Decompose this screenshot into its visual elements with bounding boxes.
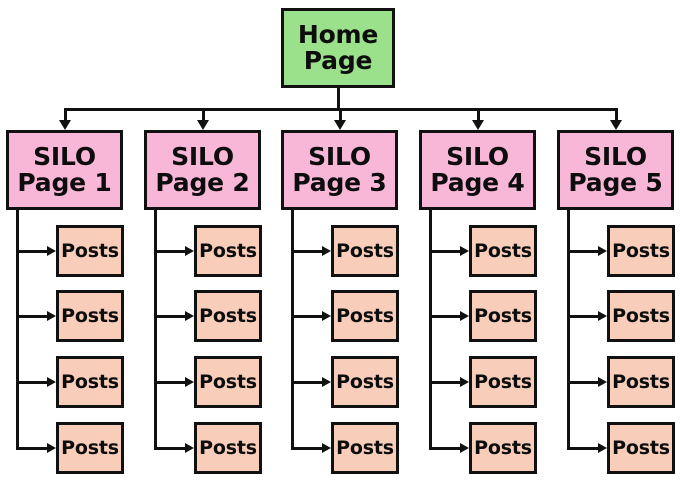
arrowhead-silo-4-post-2 <box>460 311 469 321</box>
arrowhead-silo-2-post-1 <box>185 246 194 256</box>
edge-silo-2-post-2 <box>154 315 186 318</box>
node-post-2-4-label: Posts <box>199 438 257 458</box>
arrowhead-silo-4 <box>472 120 484 130</box>
edge-silo-3-post-4 <box>291 447 323 450</box>
node-silo-page-1[interactable]: SILO Page 1 <box>6 130 123 210</box>
edge-silo-3-spine <box>291 210 294 450</box>
edge-silo-1-post-2 <box>16 315 48 318</box>
node-post-5-3-label: Posts <box>612 372 670 392</box>
arrowhead-silo-5-post-3 <box>598 377 607 387</box>
node-post-2-3[interactable]: Posts <box>194 356 262 408</box>
arrowhead-silo-5 <box>610 120 622 130</box>
node-post-2-4[interactable]: Posts <box>194 422 262 474</box>
arrowhead-silo-2 <box>197 120 209 130</box>
arrowhead-silo-5-post-1 <box>598 246 607 256</box>
node-post-5-4[interactable]: Posts <box>607 422 675 474</box>
silo-structure-diagram: Home Page SILO Page 1PostsPostsPostsPost… <box>0 0 681 488</box>
node-silo-page-5[interactable]: SILO Page 5 <box>557 130 674 210</box>
arrowhead-silo-1-post-1 <box>47 246 56 256</box>
arrowhead-silo-1-post-4 <box>47 443 56 453</box>
edge-silo-3-post-3 <box>291 381 323 384</box>
node-post-2-3-label: Posts <box>199 372 257 392</box>
arrowhead-silo-4-post-3 <box>460 377 469 387</box>
edge-silo-3-post-1 <box>291 250 323 253</box>
node-post-5-2[interactable]: Posts <box>607 290 675 342</box>
node-post-5-4-label: Posts <box>612 438 670 458</box>
node-post-4-2-label: Posts <box>474 306 532 326</box>
arrowhead-silo-2-post-3 <box>185 377 194 387</box>
node-post-3-3-label: Posts <box>336 372 394 392</box>
node-post-2-1-label: Posts <box>199 241 257 261</box>
arrowhead-silo-1-post-2 <box>47 311 56 321</box>
node-silo-page-3-label: SILO Page 3 <box>292 144 386 197</box>
arrowhead-silo-4-post-1 <box>460 246 469 256</box>
node-post-4-1-label: Posts <box>474 241 532 261</box>
node-post-3-4[interactable]: Posts <box>331 422 399 474</box>
edge-silo-5-post-1 <box>567 250 599 253</box>
node-silo-page-5-label: SILO Page 5 <box>568 144 662 197</box>
node-post-4-1[interactable]: Posts <box>469 225 537 277</box>
node-post-1-1[interactable]: Posts <box>56 225 124 277</box>
arrowhead-silo-2-post-4 <box>185 443 194 453</box>
edge-silo-2-post-3 <box>154 381 186 384</box>
edge-silo-1-post-1 <box>16 250 48 253</box>
arrowhead-silo-1 <box>59 120 71 130</box>
node-post-5-2-label: Posts <box>612 306 670 326</box>
arrowhead-silo-5-post-2 <box>598 311 607 321</box>
arrowhead-silo-1-post-3 <box>47 377 56 387</box>
edge-silo-4-post-4 <box>429 447 461 450</box>
edge-silo-4-spine <box>429 210 432 450</box>
edge-silo-3-post-2 <box>291 315 323 318</box>
arrowhead-silo-4-post-4 <box>460 443 469 453</box>
node-silo-page-1-label: SILO Page 1 <box>17 144 111 197</box>
edge-silo-2-spine <box>154 210 157 450</box>
node-post-2-2-label: Posts <box>199 306 257 326</box>
node-post-1-3[interactable]: Posts <box>56 356 124 408</box>
edge-silo-1-post-4 <box>16 447 48 450</box>
arrowhead-silo-3 <box>334 120 346 130</box>
edge-silo-1-spine <box>16 210 19 450</box>
node-post-4-4[interactable]: Posts <box>469 422 537 474</box>
node-post-3-1[interactable]: Posts <box>331 225 399 277</box>
node-post-3-3[interactable]: Posts <box>331 356 399 408</box>
node-silo-page-2-label: SILO Page 2 <box>155 144 249 197</box>
node-post-1-4[interactable]: Posts <box>56 422 124 474</box>
node-post-4-2[interactable]: Posts <box>469 290 537 342</box>
node-post-1-4-label: Posts <box>61 438 119 458</box>
arrowhead-silo-3-post-3 <box>322 377 331 387</box>
node-post-3-4-label: Posts <box>336 438 394 458</box>
node-silo-page-3[interactable]: SILO Page 3 <box>281 130 398 210</box>
node-post-1-1-label: Posts <box>61 241 119 261</box>
node-post-2-2[interactable]: Posts <box>194 290 262 342</box>
node-post-3-1-label: Posts <box>336 241 394 261</box>
edge-silo-4-post-3 <box>429 381 461 384</box>
node-silo-page-4-label: SILO Page 4 <box>430 144 524 197</box>
node-silo-page-4[interactable]: SILO Page 4 <box>419 130 536 210</box>
node-post-4-3[interactable]: Posts <box>469 356 537 408</box>
edge-silo-2-post-1 <box>154 250 186 253</box>
node-post-3-2[interactable]: Posts <box>331 290 399 342</box>
edge-silo-5-spine <box>567 210 570 450</box>
arrowhead-silo-3-post-1 <box>322 246 331 256</box>
node-post-1-3-label: Posts <box>61 372 119 392</box>
node-post-3-2-label: Posts <box>336 306 394 326</box>
node-post-5-1-label: Posts <box>612 241 670 261</box>
edge-silo-4-post-2 <box>429 315 461 318</box>
edge-silo-1-post-3 <box>16 381 48 384</box>
node-post-2-1[interactable]: Posts <box>194 225 262 277</box>
edge-silo-2-post-4 <box>154 447 186 450</box>
node-post-4-3-label: Posts <box>474 372 532 392</box>
arrowhead-silo-3-post-4 <box>322 443 331 453</box>
node-silo-page-2[interactable]: SILO Page 2 <box>144 130 261 210</box>
node-post-1-2[interactable]: Posts <box>56 290 124 342</box>
node-post-1-2-label: Posts <box>61 306 119 326</box>
edge-silo-5-post-3 <box>567 381 599 384</box>
edge-silo-5-post-4 <box>567 447 599 450</box>
arrowhead-silo-3-post-2 <box>322 311 331 321</box>
edge-silo-4-post-1 <box>429 250 461 253</box>
node-post-5-1[interactable]: Posts <box>607 225 675 277</box>
arrowhead-silo-5-post-4 <box>598 443 607 453</box>
edge-silo-5-post-2 <box>567 315 599 318</box>
node-home-page-label: Home Page <box>298 22 378 75</box>
node-post-4-4-label: Posts <box>474 438 532 458</box>
node-post-5-3[interactable]: Posts <box>607 356 675 408</box>
arrowhead-silo-2-post-2 <box>185 311 194 321</box>
node-home-page[interactable]: Home Page <box>281 8 395 88</box>
